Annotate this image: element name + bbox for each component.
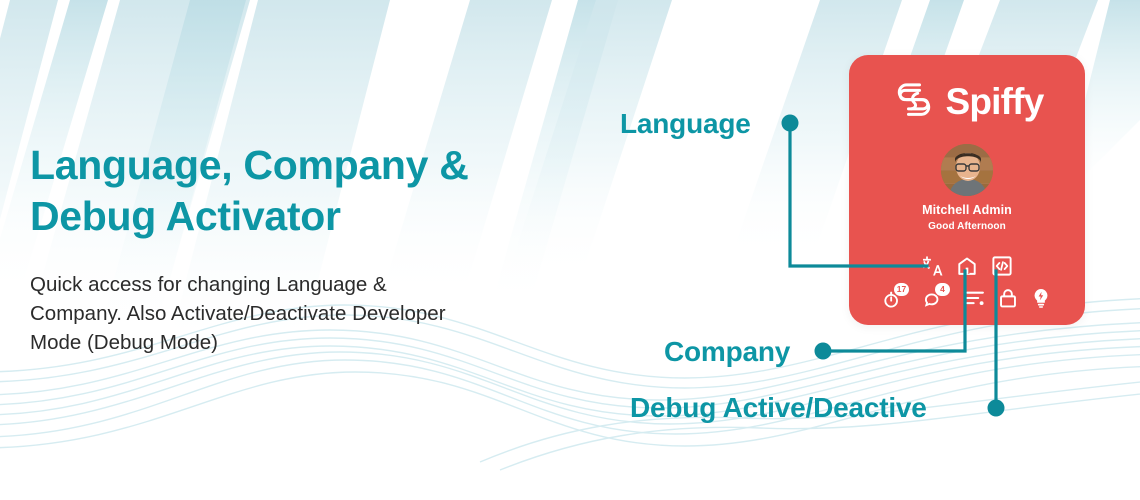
activity-clock-icon-wrapper[interactable]: 17 xyxy=(882,287,912,309)
callout-label-language: Language xyxy=(620,108,751,140)
callout-label-debug: Debug Active/Deactive xyxy=(630,392,927,424)
hero-text-block: Language, Company & Debug Activator Quic… xyxy=(30,140,550,357)
card-secondary-icon-row: 17 4 xyxy=(849,287,1085,309)
building-icon[interactable] xyxy=(956,255,978,277)
avatar-photo xyxy=(941,144,993,196)
avatar xyxy=(941,144,993,196)
callout-label-company: Company xyxy=(664,336,790,368)
lock-icon[interactable] xyxy=(997,287,1019,309)
brand-logo-row: Spiffy xyxy=(849,75,1085,127)
card-greeting: Good Afternoon xyxy=(849,221,1085,232)
connector-dot-company xyxy=(815,343,832,360)
connector-dot-language xyxy=(782,115,799,132)
brand-wordmark: Spiffy xyxy=(946,83,1044,120)
translate-icon[interactable] xyxy=(921,255,943,277)
promo-banner: Language, Company & Debug Activator Quic… xyxy=(0,0,1140,500)
card-user-name: Mitchell Admin xyxy=(849,203,1085,217)
hero-description: Quick access for changing Language & Com… xyxy=(30,270,480,357)
user-profile-card: Spiffy Mitchell Admin Good Afternoon xyxy=(849,55,1085,325)
activity-badge-count: 17 xyxy=(894,283,909,296)
filter-settings-icon[interactable] xyxy=(964,287,986,309)
code-icon[interactable] xyxy=(991,255,1013,277)
page-title-line-2: Debug Activator xyxy=(30,191,550,242)
messages-badge-count: 4 xyxy=(935,283,950,296)
card-primary-icon-row xyxy=(849,255,1085,277)
messages-icon-wrapper[interactable]: 4 xyxy=(923,287,953,309)
spiffy-logo-icon xyxy=(891,79,937,123)
connector-dot-debug xyxy=(988,400,1005,417)
lightbulb-icon[interactable] xyxy=(1030,287,1052,309)
page-title-line-1: Language, Company & xyxy=(30,140,550,191)
